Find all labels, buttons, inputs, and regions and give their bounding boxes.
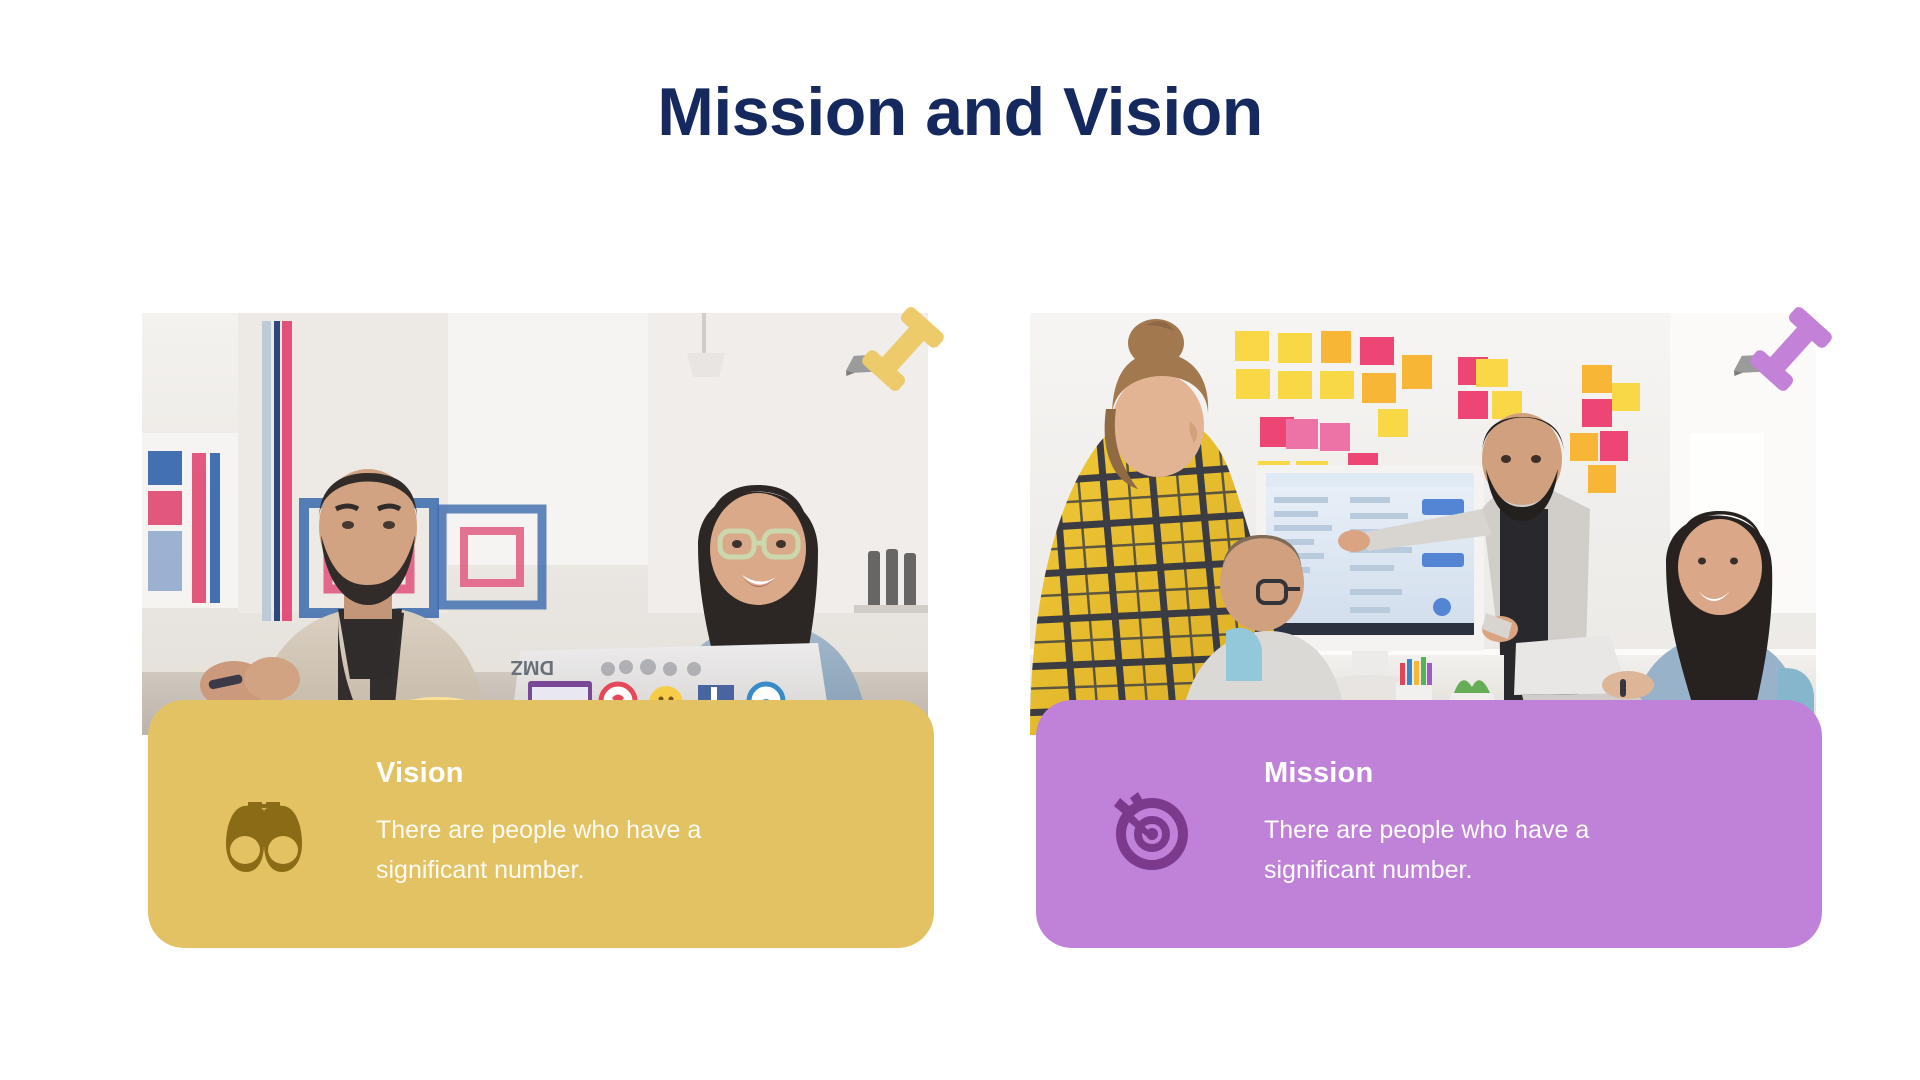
mission-text-block: Mission There are people who have a sign… (1264, 758, 1764, 891)
mission-body: There are people who have a significant … (1264, 810, 1694, 891)
mission-heading: Mission (1264, 758, 1764, 790)
page-title: Mission and Vision (0, 74, 1920, 150)
vision-card: DMZ (142, 270, 942, 970)
vision-body: There are people who have a significant … (376, 810, 806, 891)
mission-photo (1030, 313, 1816, 735)
binoculars-icon (218, 788, 310, 880)
vision-info-panel: Vision There are people who have a signi… (148, 700, 934, 948)
mission-card: Mission There are people who have a sign… (1030, 270, 1830, 970)
vision-photo: DMZ (142, 313, 928, 735)
vision-text-block: Vision There are people who have a signi… (376, 758, 876, 891)
vision-heading: Vision (376, 758, 876, 790)
vision-photo-image: DMZ (142, 313, 928, 735)
mission-photo-image (1030, 313, 1816, 735)
target-bullseye-icon (1106, 788, 1198, 880)
mission-info-panel: Mission There are people who have a sign… (1036, 700, 1822, 948)
